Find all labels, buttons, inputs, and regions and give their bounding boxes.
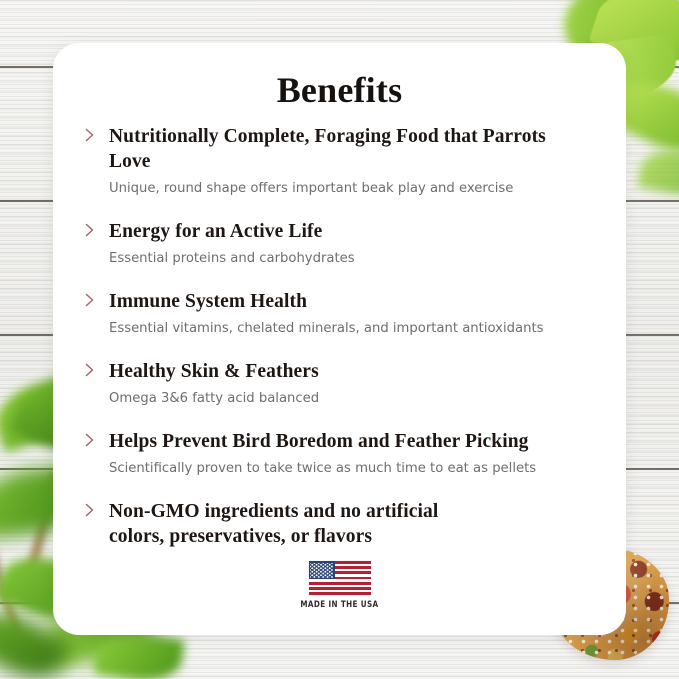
list-item: Immune System Health Essential vitamins,… [53, 290, 626, 338]
benefit-heading: Non-GMO ingredients and no artificial co… [109, 500, 476, 550]
list-item: Helps Prevent Bird Boredom and Feather P… [53, 430, 626, 478]
list-item: Healthy Skin & Feathers Omega 3&6 fatty … [53, 360, 626, 408]
product-benefits-infographic: Benefits Nutritionally Complete, Foragin… [0, 0, 679, 679]
made-in-usa-caption: MADE IN THE USA [300, 599, 378, 609]
chevron-right-icon [83, 222, 97, 238]
us-flag-icon [309, 561, 371, 595]
chevron-right-icon [83, 127, 97, 143]
chevron-right-icon [83, 292, 97, 308]
flag-canton [309, 561, 335, 579]
benefit-heading: Nutritionally Complete, Foraging Food th… [109, 125, 592, 175]
benefit-heading: Energy for an Active Life [109, 220, 592, 245]
benefit-subtext: Essential proteins and carbohydrates [109, 249, 592, 268]
benefit-heading: Healthy Skin & Feathers [109, 360, 592, 385]
benefit-heading: Immune System Health [109, 290, 592, 315]
chevron-right-icon [83, 502, 97, 518]
benefit-heading: Helps Prevent Bird Boredom and Feather P… [109, 430, 592, 455]
list-item: Non-GMO ingredients and no artificial co… [53, 500, 626, 550]
chevron-right-icon [83, 432, 97, 448]
list-item: Nutritionally Complete, Foraging Food th… [53, 125, 626, 198]
benefits-list: Nutritionally Complete, Foraging Food th… [53, 111, 626, 550]
benefit-subtext: Essential vitamins, chelated minerals, a… [109, 319, 592, 338]
page-title: Benefits [53, 43, 626, 111]
benefit-subtext: Scientifically proven to take twice as m… [109, 459, 592, 478]
chevron-right-icon [83, 362, 97, 378]
benefit-subtext: Omega 3&6 fatty acid balanced [109, 389, 592, 408]
benefits-card: Benefits Nutritionally Complete, Foragin… [53, 43, 626, 635]
list-item: Energy for an Active Life Essential prot… [53, 220, 626, 268]
benefit-subtext: Unique, round shape offers important bea… [109, 179, 592, 198]
made-in-usa-badge: MADE IN THE USA [53, 561, 626, 609]
flag-stars [310, 563, 333, 578]
